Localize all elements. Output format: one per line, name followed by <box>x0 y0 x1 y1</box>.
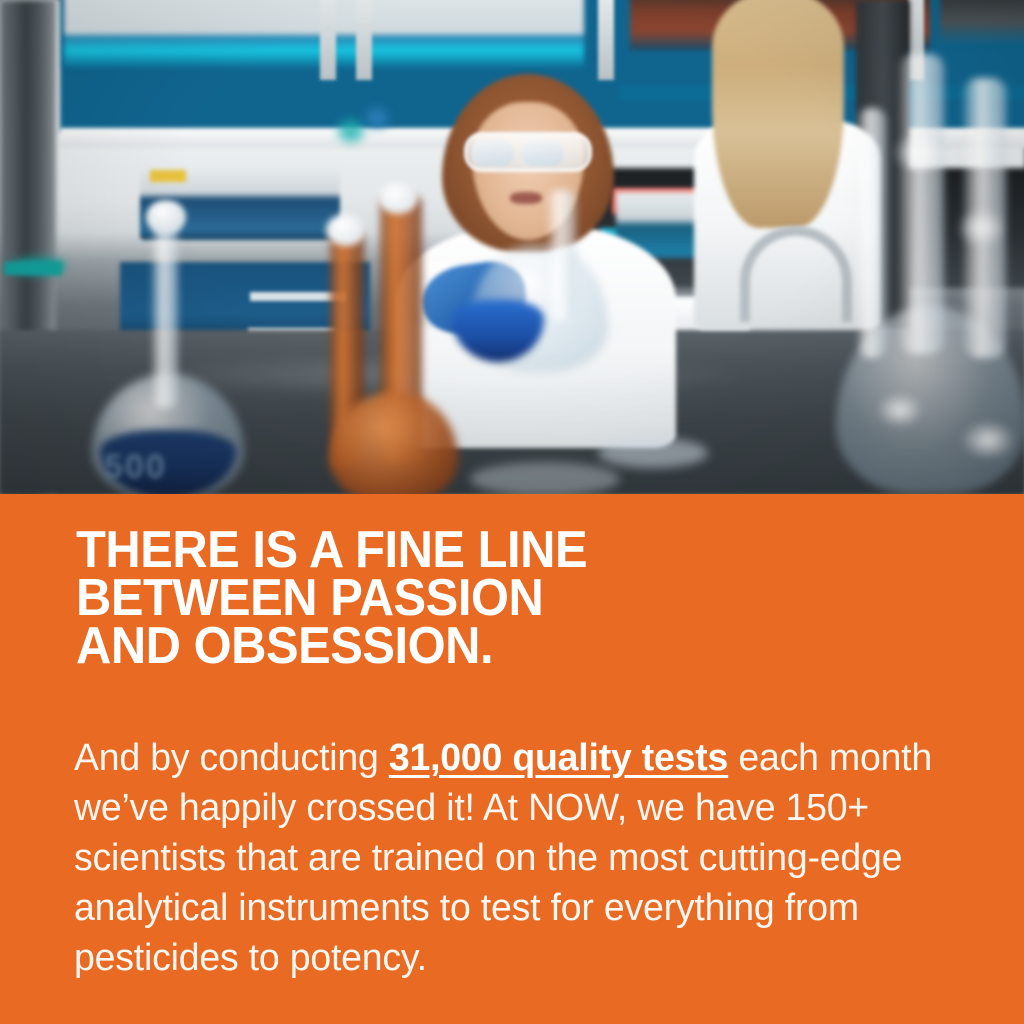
blue-bokeh <box>366 108 388 128</box>
glass-highlight <box>892 132 946 174</box>
petri-dish-bokeh <box>598 438 708 468</box>
foreground-glassware: 500 <box>0 0 1024 494</box>
flask-stopper <box>326 214 366 246</box>
teal-bokeh <box>10 258 66 274</box>
quality-tests-highlight: 31,000 quality tests <box>389 737 728 779</box>
body-copy: And by conducting 31,000 quality tests e… <box>74 733 941 983</box>
orange-message-panel: THERE IS A FINE LINE BETWEEN PASSION AND… <box>0 494 1024 1024</box>
flask-stopper <box>378 182 418 214</box>
teal-bokeh <box>338 120 364 142</box>
center-flask-neck <box>548 190 576 320</box>
right-glass-column <box>900 54 944 354</box>
promo-card: 500 THERE IS A FINE LINE BETWEEN PASSION… <box>0 0 1024 1024</box>
lab-photo: 500 <box>0 0 1024 494</box>
volumetric-flask-neck <box>152 212 178 408</box>
page-title: THERE IS A FINE LINE BETWEEN PASSION AND… <box>76 526 903 670</box>
glass-highlight <box>960 420 1016 460</box>
glass-highlight <box>876 392 924 428</box>
flask-volume-label: 500 <box>104 448 196 484</box>
glass-highlight <box>956 208 1006 248</box>
right-glass-column <box>858 108 886 358</box>
flask-stopper <box>146 200 186 234</box>
body-copy-part1: And by conducting <box>74 737 389 779</box>
glass-bokeh <box>470 462 620 494</box>
